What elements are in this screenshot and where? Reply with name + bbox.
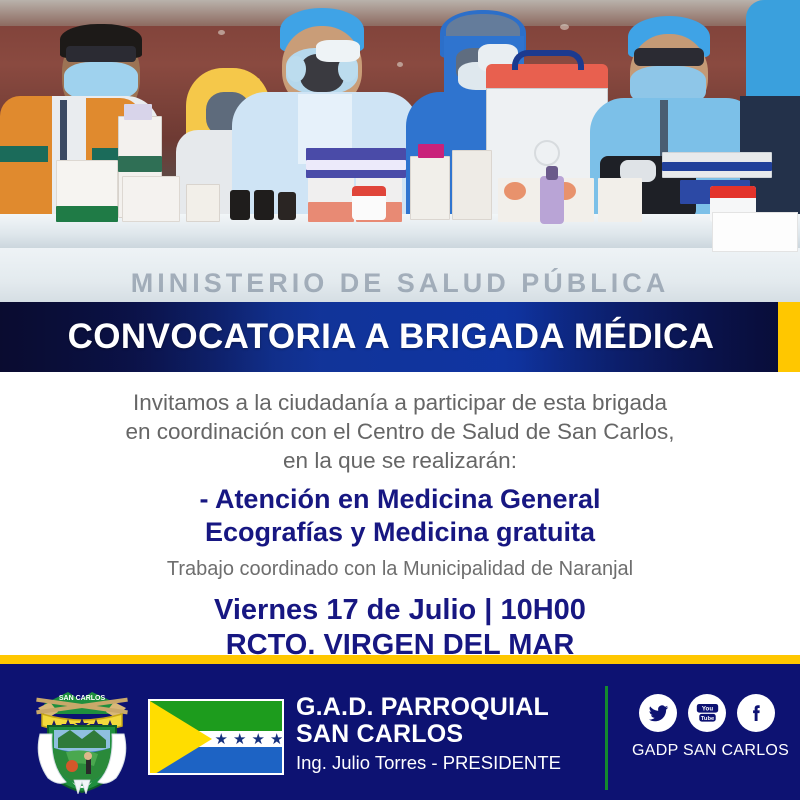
wall-speckle	[560, 24, 569, 30]
photo-medicine-box	[410, 156, 450, 220]
org-name-line-1: G.A.D. PARROQUIAL	[296, 694, 596, 721]
flag-star: ★	[252, 732, 265, 747]
title-banner: CONVOCATORIA A BRIGADA MÉDICA	[0, 302, 800, 372]
photo-medicine-box	[56, 206, 118, 222]
intro-line-1: Invitamos a la ciudadanía a participar d…	[0, 388, 800, 417]
photo-medicine-box	[122, 176, 180, 222]
photo-medicine-box	[452, 150, 492, 220]
svg-text:You: You	[701, 706, 712, 713]
photo-sanitizer-pump	[546, 166, 558, 180]
photo-medicine-box	[662, 162, 772, 171]
photo-medicine-box	[118, 156, 162, 172]
photo-specimen-cup-lid	[710, 186, 756, 198]
header-photo: MINISTERIO DE SALUD PÚBLICA	[0, 0, 800, 302]
org-name-line-2: SAN CARLOS	[296, 721, 596, 748]
flag-star: ★	[270, 732, 283, 747]
photo-medicine-box	[186, 184, 220, 222]
twitter-icon[interactable]	[639, 694, 677, 732]
parish-flag-icon: ★ ★ ★ ★	[148, 699, 284, 775]
photo-medicine-box	[306, 160, 406, 170]
photo-sanitizer-bottle	[540, 176, 564, 224]
coordination-text: Trabajo coordinado con la Municipalidad …	[0, 558, 800, 581]
photo-vial	[278, 192, 296, 220]
social-block: You Tube GADP SAN CARLOS	[632, 694, 782, 760]
intro-line-3: en la que se realizarán:	[0, 446, 800, 475]
services-list: - Atención en Medicina General Ecografía…	[0, 483, 800, 549]
photo-medicine-box	[308, 202, 354, 222]
social-icons: You Tube	[632, 694, 782, 732]
coat-of-arms-icon: SAN CARLOS	[28, 674, 136, 794]
footer-yellow-divider	[0, 655, 800, 664]
photo-medicine-box	[124, 104, 152, 120]
flag-star: ★	[215, 732, 228, 747]
service-item-1: - Atención en Medicina General	[0, 483, 800, 516]
intro-line-2: en coordinación con el Centro de Salud d…	[0, 417, 800, 446]
photo-medicine-box	[504, 182, 526, 200]
page-title: CONVOCATORIA A BRIGADA MÉDICA	[68, 317, 733, 357]
photo-vial	[254, 190, 274, 220]
footer-vertical-divider	[605, 686, 608, 790]
flag-yellow-triangle	[150, 701, 212, 775]
body-section: Invitamos a la ciudadanía a participar d…	[0, 372, 800, 655]
social-handle: GADP SAN CARLOS	[632, 742, 782, 760]
wall-speckle	[397, 62, 403, 67]
event-details: Viernes 17 de Julio | 10H00 RCTO. VIRGEN…	[0, 593, 800, 663]
wall-speckle	[218, 30, 225, 35]
photo-clipboard	[712, 212, 798, 252]
org-president-name: Ing. Julio Torres - PRESIDENTE	[296, 750, 596, 775]
flag-star: ★	[233, 732, 246, 747]
organization-block: G.A.D. PARROQUIAL SAN CARLOS Ing. Julio …	[296, 694, 596, 775]
intro-text: Invitamos a la ciudadanía a participar d…	[0, 388, 800, 475]
photo-vial	[230, 190, 250, 220]
svg-text:Tube: Tube	[700, 716, 713, 722]
photo-sample-cup-lid	[352, 186, 386, 196]
youtube-icon[interactable]: You Tube	[688, 694, 726, 732]
flag-stars: ★ ★ ★ ★	[212, 729, 284, 749]
svg-text:SAN CARLOS: SAN CARLOS	[59, 695, 106, 702]
photo-medicine-box	[418, 144, 444, 158]
event-datetime: Viernes 17 de Julio | 10H00	[0, 593, 800, 628]
service-item-2: Ecografías y Medicina gratuita	[0, 516, 800, 549]
poster: MINISTERIO DE SALUD PÚBLICA CONVOCATORIA…	[0, 0, 800, 800]
table-banner-text: MINISTERIO DE SALUD PÚBLICA	[0, 268, 800, 299]
facebook-icon[interactable]	[737, 694, 775, 732]
banner-yellow-accent	[778, 302, 800, 372]
photo-medicine-box	[598, 178, 642, 222]
